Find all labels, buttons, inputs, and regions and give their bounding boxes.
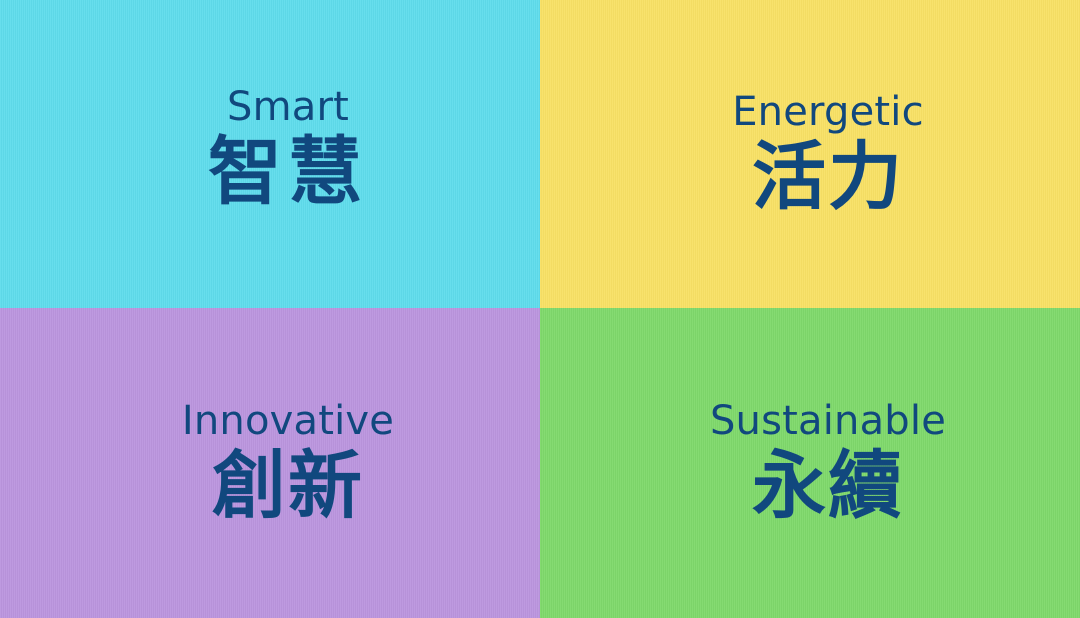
quadrant-sustainable[interactable]: Sustainable 永續 <box>540 308 1080 618</box>
quadrant-energetic[interactable]: Energetic 活力 <box>540 0 1080 308</box>
quadrant-innovative-label-en: Innovative <box>182 401 394 441</box>
quadrant-innovative[interactable]: Innovative 創新 <box>0 308 540 618</box>
values-grid: Smart 智慧 Energetic 活力 Innovative 創新 Sust… <box>0 0 1080 618</box>
quadrant-smart-label-en: Smart <box>208 87 368 127</box>
quadrant-smart-label-zh: 智慧 <box>208 135 368 209</box>
brand-values-canvas: Smart 智慧 Energetic 活力 Innovative 創新 Sust… <box>0 0 1080 618</box>
quadrant-energetic-label-en: Energetic <box>732 92 924 132</box>
quadrant-innovative-label-zh: 創新 <box>182 449 394 523</box>
quadrant-sustainable-label-zh: 永續 <box>710 449 946 523</box>
quadrant-energetic-text: Energetic 活力 <box>732 92 924 214</box>
quadrant-energetic-label-zh: 活力 <box>732 140 924 214</box>
quadrant-smart[interactable]: Smart 智慧 <box>0 0 540 308</box>
quadrant-smart-text: Smart 智慧 <box>208 87 368 209</box>
quadrant-innovative-text: Innovative 創新 <box>182 401 394 523</box>
quadrant-sustainable-text: Sustainable 永續 <box>710 401 946 523</box>
quadrant-sustainable-label-en: Sustainable <box>710 401 946 441</box>
